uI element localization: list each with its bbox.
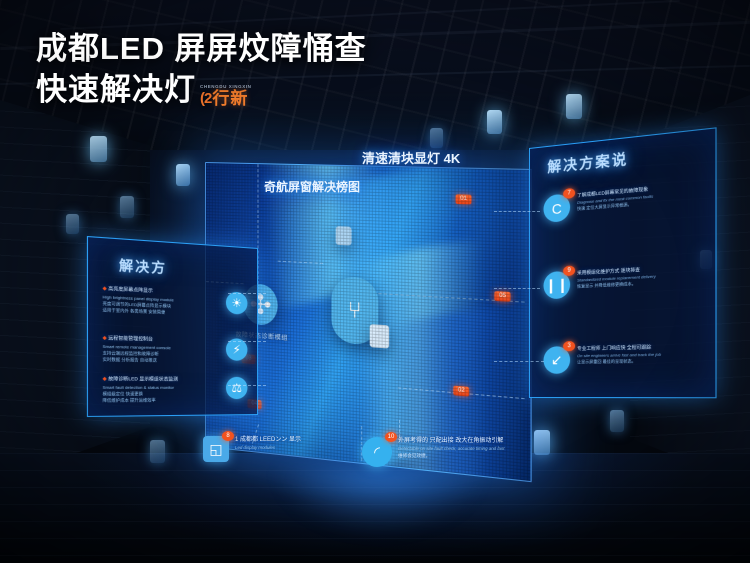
bottom-callout-left[interactable]: ◱ 8 1 成都都 LEEDンン 显示 Led display modules — [203, 436, 301, 462]
left-item-text: ◆ 故障诊断LED 显示模组状态监测 Smart fault detection… — [103, 376, 196, 404]
right-item-text: 了解成都LED屏幕常见的故障现象 Diagnose and fix the mo… — [577, 186, 653, 212]
status-badge: 8 — [222, 431, 234, 441]
panel-leader-line — [494, 288, 540, 289]
right-panel-title: 解决方案说 — [547, 149, 628, 178]
panel-module-glyph: ◱ — [209, 441, 222, 458]
floor-glow — [230, 468, 530, 563]
brand-logo: CHENGDU XINGXIN (2 行新 — [200, 85, 252, 108]
panel-leader-line — [228, 385, 266, 386]
callout-line1: 1 成都都 LEEDンン 显示 — [235, 436, 301, 445]
brightness-icon: ☀ — [231, 296, 242, 311]
light-panel — [534, 430, 550, 455]
logo-mark-icon: (2 — [200, 91, 211, 106]
light-panel — [150, 440, 165, 463]
remote-control-icon: ⚡ — [233, 342, 241, 356]
panel-leader-line — [228, 293, 266, 294]
callout-text: 外屏考得的 只配出接 改大在角振动引解 Detectable on site f… — [398, 437, 504, 460]
page-title-line2-text: 快速解决灯 — [36, 69, 196, 110]
right-item-text: 采用模组化维护方式 逐块排查 Standardized module repla… — [577, 266, 656, 290]
callout-line1: 外屏考得的 只配出接 改大在角振动引解 — [398, 437, 504, 446]
right-panel-item[interactable]: ❙❙ 9 采用模组化维护方式 逐块排查 Standardized module … — [544, 264, 702, 300]
left-item-body: 降低维护成本 提升运维效率 — [103, 397, 196, 404]
poster-canvas: ✣ ⑂ 故障状态诊断模组 01 02 03 04 05 解决方 — [0, 0, 750, 563]
right-panel-item[interactable]: ↙ 3 专业工程师 上门响应快 全程可跟踪 On site engineers … — [544, 343, 702, 374]
light-panel — [120, 196, 134, 218]
logo-subtext: CHENGDU XINGXIN — [200, 85, 252, 90]
panel-module-icon[interactable]: ◱ 8 — [203, 436, 229, 462]
light-panel — [610, 410, 624, 432]
right-item-icon-1[interactable]: ❙❙ 9 — [544, 271, 571, 300]
status-badge: 3 — [563, 341, 575, 351]
cycle-icon: C — [552, 200, 562, 217]
light-panel — [430, 128, 443, 148]
left-item-head: ◆ 故障诊断LED 显示模组状态监测 — [103, 376, 196, 384]
right-item-line3: 让显示屏重回 最佳的呈现状态。 — [577, 358, 661, 366]
left-item-body: 实时数据 分析报告 自动推送 — [103, 356, 196, 364]
diagnostics-icon: ⚖ — [231, 381, 242, 395]
leaf-glyph: ◜ — [374, 443, 380, 461]
resolution-label: 清速清块显灯 4K — [362, 148, 460, 167]
right-solution-panel[interactable]: 解决方案说 C 7 了解成都LED屏幕常见的故障现象 Diagnose and … — [529, 127, 717, 398]
bullet-icon: ◆ — [103, 286, 107, 293]
status-badge: 7 — [563, 188, 575, 199]
right-item-icon-2[interactable]: ↙ 3 — [544, 346, 571, 374]
callout-text: 1 成都都 LEEDンン 显示 Led display modules — [235, 436, 301, 452]
left-solution-panel[interactable]: 解决方 ◆ 高亮度屏幕点阵显示 High brightness panel di… — [87, 236, 258, 417]
modules-icon: ❙❙ — [545, 276, 568, 294]
panel-leader-line — [494, 361, 544, 362]
light-panel — [176, 164, 190, 186]
light-panel — [566, 94, 582, 119]
poster-header: 成都LED 屏屏炆障悀查 快速解决灯 CHENGDU XINGXIN (2 行新 — [36, 28, 367, 110]
bullet-icon: ◆ — [103, 335, 107, 342]
callout-line2: Led display modules — [235, 445, 301, 452]
logo-main: (2 行新 — [200, 90, 248, 107]
logo-name: 行新 — [212, 90, 248, 107]
right-item-text: 专业工程师 上门响应快 全程可跟踪 On site engineers arri… — [577, 344, 661, 365]
page-title-line1: 成都LED 屏屏炆障悀查 — [36, 28, 367, 69]
light-panel — [66, 214, 79, 234]
screen-solution-label: 奇航屏窗解决榜图 — [264, 178, 360, 195]
left-item-body: Smart fault detection & status monitor — [103, 384, 196, 391]
light-panel — [90, 136, 107, 162]
bullet-icon: ◆ — [103, 376, 107, 382]
light-panel — [487, 110, 502, 134]
right-panel-item[interactable]: C 7 了解成都LED屏幕常见的故障现象 Diagnose and fix th… — [544, 182, 702, 223]
status-badge: 10 — [385, 432, 397, 442]
callout-line3: 维修会见效捷。 — [398, 453, 504, 460]
leaf-support-icon[interactable]: ◜ 10 — [362, 437, 392, 467]
bottom-callout-right[interactable]: ◜ 10 外屏考得的 只配出接 改大在角振动引解 Detectable on s… — [362, 437, 504, 467]
left-panel-title: 解决方 — [119, 254, 167, 277]
left-item-icon-0[interactable]: ☀ — [226, 291, 247, 314]
left-item-icon-2[interactable]: ⚖ — [226, 377, 247, 399]
left-item-text: ◆ 远程智能管理控制台 Smart remote management cons… — [103, 335, 196, 364]
panel-leader-line — [494, 211, 540, 212]
support-icon: ↙ — [551, 351, 563, 368]
callout-line2: Detectable on site fault check, accurate… — [398, 446, 504, 453]
left-item-text: ◆ 高亮度屏幕点阵显示 High brightness panel displa… — [103, 286, 196, 317]
status-badge: 9 — [563, 265, 575, 276]
ceiling-beam — [60, 0, 679, 30]
panel-leader-line — [228, 341, 266, 342]
page-title-line2: 快速解决灯 CHENGDU XINGXIN (2 行新 — [36, 69, 367, 110]
right-item-icon-0[interactable]: C 7 — [544, 193, 571, 223]
